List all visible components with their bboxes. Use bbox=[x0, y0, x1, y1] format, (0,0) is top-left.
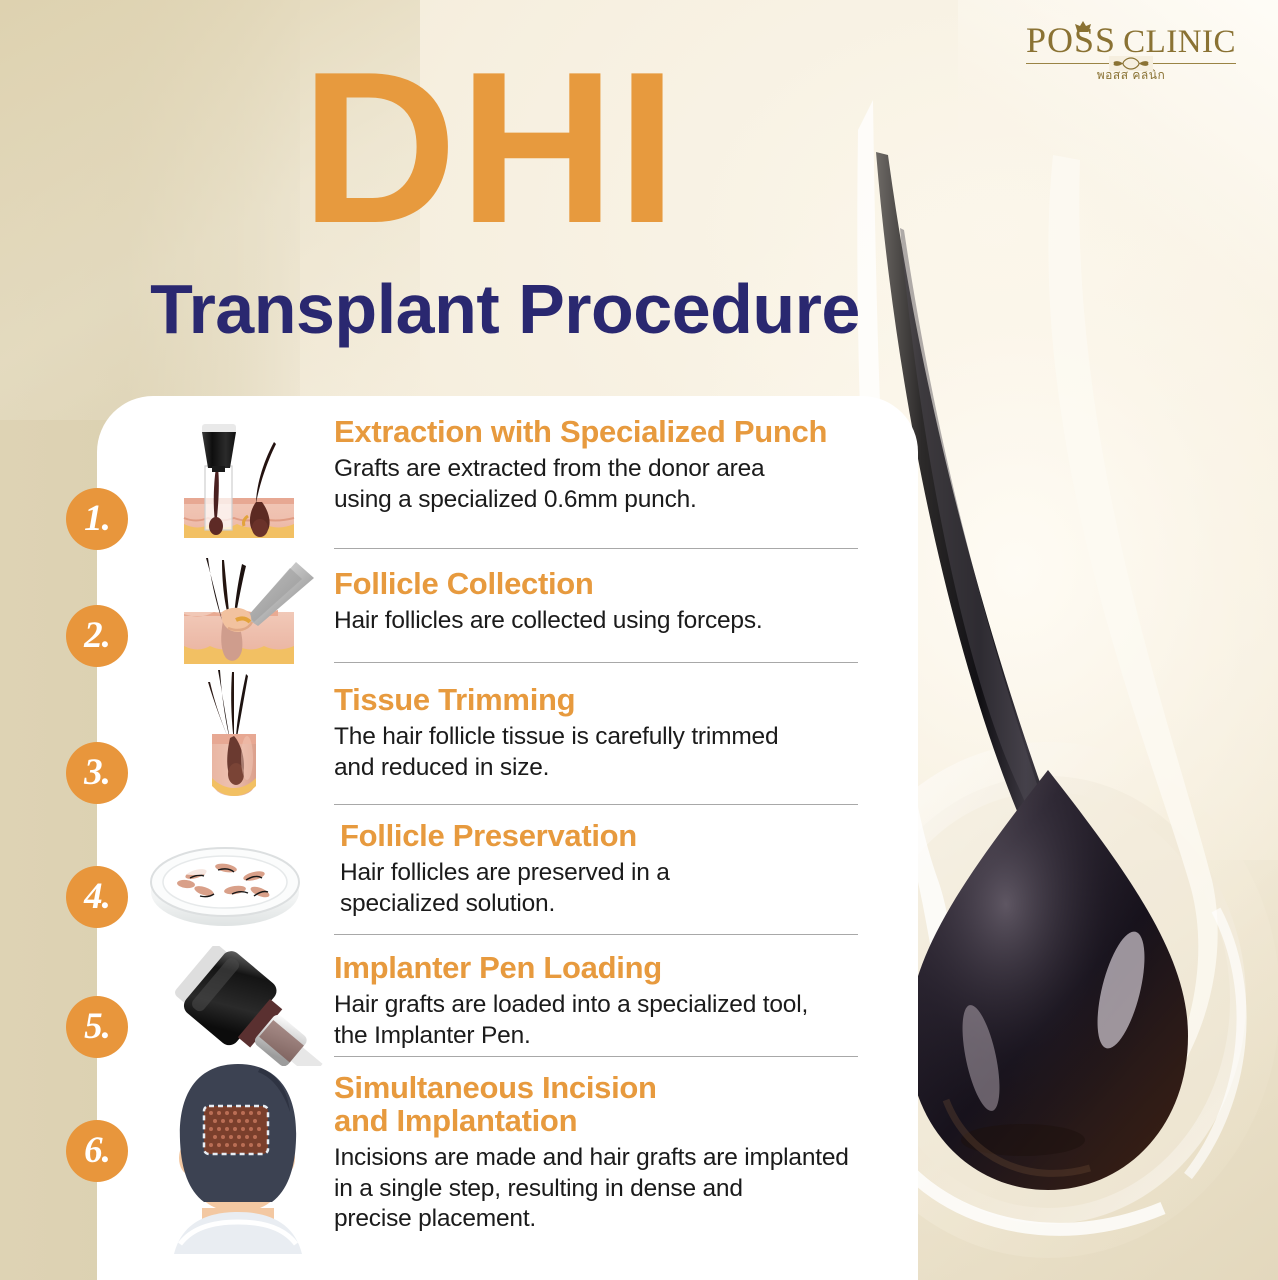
page-title: DHI bbox=[0, 44, 980, 251]
step-number-badge: 3. bbox=[66, 742, 128, 804]
step-description: Grafts are extracted from the donor area… bbox=[334, 454, 894, 516]
step-text: Tissue Trimming The hair follicle tissue… bbox=[334, 684, 894, 784]
step-divider bbox=[334, 1056, 858, 1057]
step-title: Simultaneous Incision and Implantation bbox=[334, 1072, 894, 1138]
step-divider bbox=[334, 548, 858, 549]
logo-wordmark: POSSCLINIC bbox=[1026, 22, 1236, 59]
step-text: Implanter Pen Loading Hair grafts are lo… bbox=[334, 952, 894, 1052]
forceps-collection-illustration bbox=[150, 552, 325, 680]
step-divider bbox=[334, 804, 858, 805]
page-subtitle: Transplant Procedure bbox=[0, 274, 1010, 344]
step-number-badge: 6. bbox=[66, 1120, 128, 1182]
step-number-badge: 2. bbox=[66, 605, 128, 667]
step-description: Hair follicles are preserved in a specia… bbox=[340, 858, 900, 920]
step-text: Follicle Preservation Hair follicles are… bbox=[340, 820, 900, 920]
step-number-badge: 4. bbox=[66, 866, 128, 928]
step-divider bbox=[334, 934, 858, 935]
step-description: Incisions are made and hair grafts are i… bbox=[334, 1143, 894, 1236]
logo-divider bbox=[1026, 63, 1236, 64]
logo-clinic: CLINIC bbox=[1123, 24, 1236, 60]
step-number-badge: 5. bbox=[66, 996, 128, 1058]
flourish-ornament-icon bbox=[1109, 56, 1153, 71]
step-text: Extraction with Specialized Punch Grafts… bbox=[334, 416, 894, 516]
step-text: Simultaneous Incision and Implantation I… bbox=[334, 1072, 894, 1235]
brand-logo: POSSCLINIC พอสส คลินิก bbox=[1026, 22, 1236, 85]
step-description: Hair follicles are collected using force… bbox=[334, 606, 894, 637]
step-title: Follicle Preservation bbox=[340, 820, 900, 853]
step-divider bbox=[334, 662, 858, 663]
step-title: Tissue Trimming bbox=[334, 684, 894, 717]
step-title: Extraction with Specialized Punch bbox=[334, 416, 894, 449]
step-description: Hair grafts are loaded into a specialize… bbox=[334, 990, 894, 1052]
step-description: The hair follicle tissue is carefully tr… bbox=[334, 722, 894, 784]
step-text: Follicle Collection Hair follicles are c… bbox=[334, 568, 894, 637]
step-number-badge: 1. bbox=[66, 488, 128, 550]
implanter-pen-illustration bbox=[150, 946, 325, 1066]
steps-list: 1. bbox=[0, 396, 918, 1280]
petri-dish-illustration bbox=[140, 834, 310, 934]
punch-extraction-illustration bbox=[150, 406, 325, 556]
logo-poss: POSS bbox=[1026, 20, 1116, 60]
donor-area-head-illustration bbox=[150, 1058, 325, 1258]
crown-icon bbox=[1073, 20, 1093, 36]
follicle-trimming-illustration bbox=[150, 668, 325, 804]
infographic-poster: POSSCLINIC พอสส คลินิก DHI Transplant Pr… bbox=[0, 0, 1278, 1280]
step-title: Implanter Pen Loading bbox=[334, 952, 894, 985]
step-title: Follicle Collection bbox=[334, 568, 894, 601]
